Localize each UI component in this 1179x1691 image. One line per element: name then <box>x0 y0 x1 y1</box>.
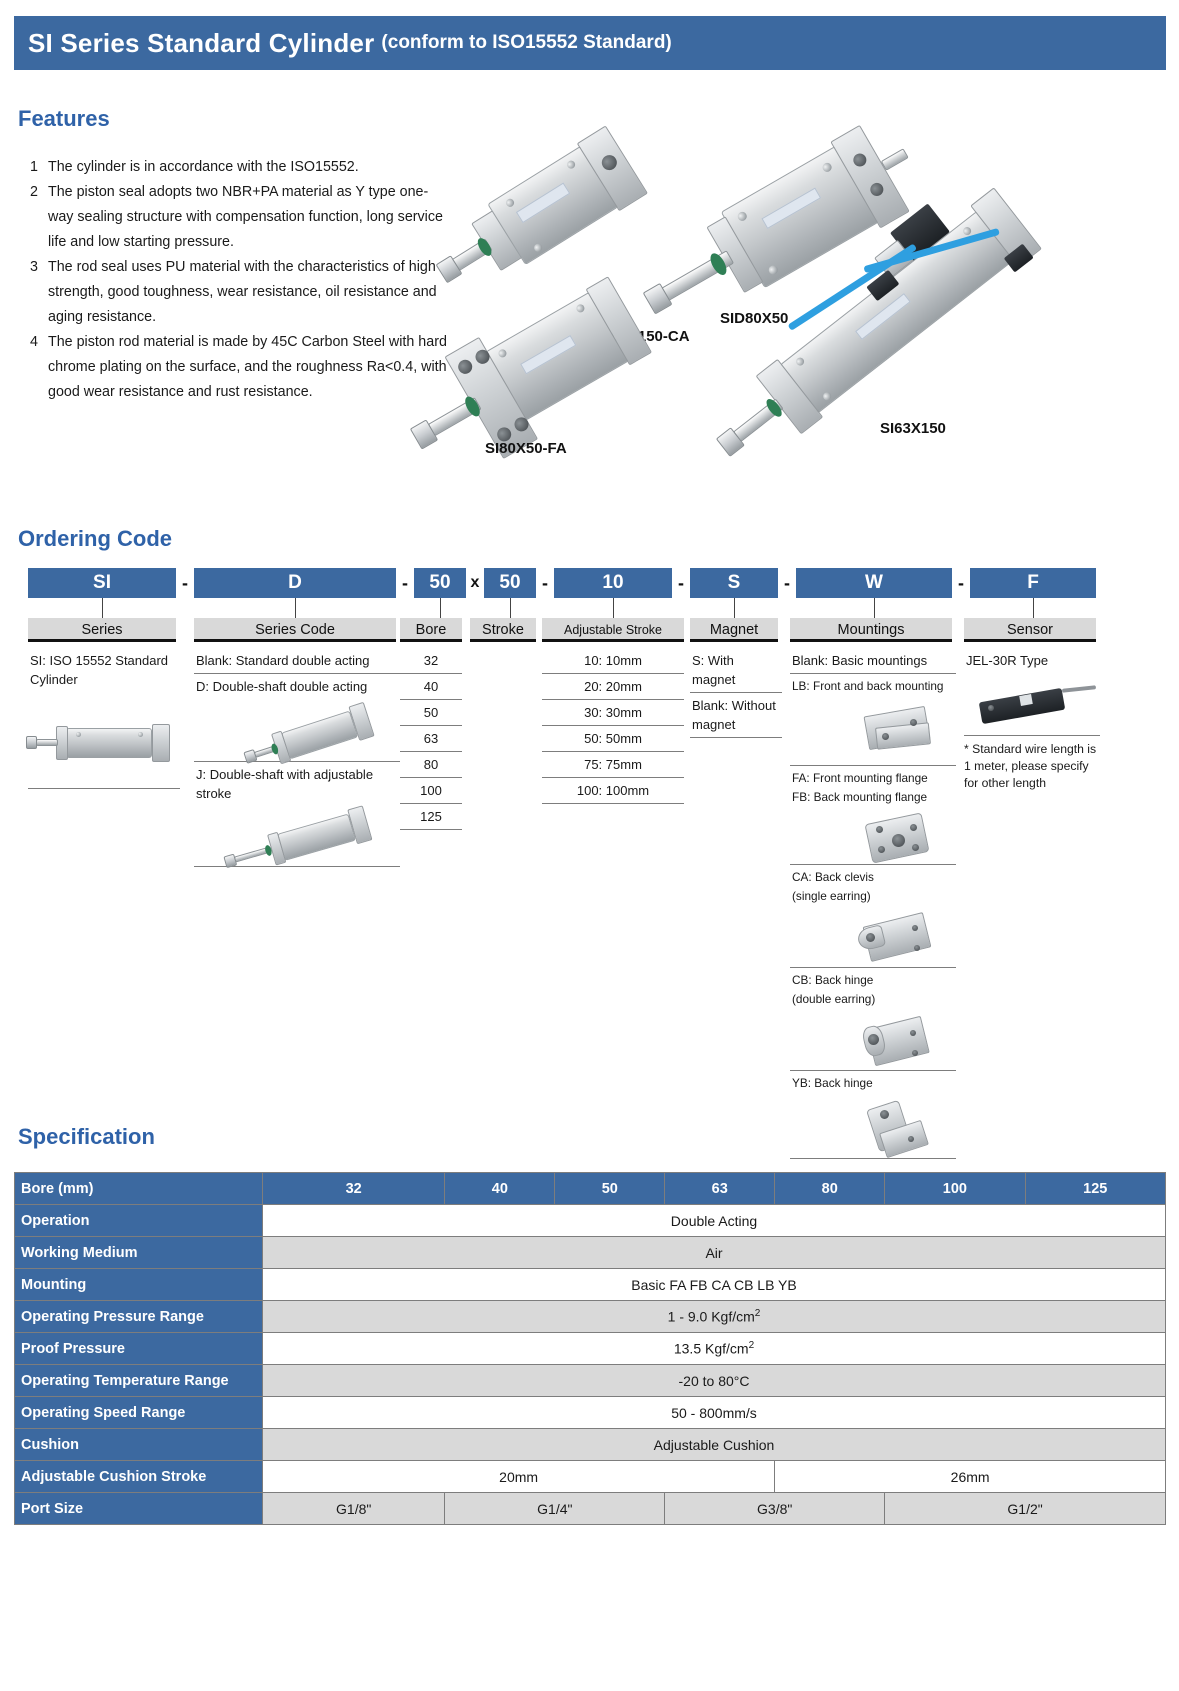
leader-line-series-code <box>295 598 296 618</box>
port-size-value: G1/2" <box>885 1493 1166 1525</box>
option-item: 40 <box>400 674 462 700</box>
row-value: Basic FA FB CA CB LB YB <box>263 1269 1166 1301</box>
order-code-sensor[interactable]: F <box>970 568 1096 598</box>
feature-item: 4 The piston rod material is made by 45C… <box>22 330 452 405</box>
feature-text: The rod seal uses PU material with the c… <box>48 255 452 330</box>
order-separator-2: - <box>398 568 412 598</box>
leader-line-mountings <box>874 598 875 618</box>
series-code-thumbnail-d <box>194 699 400 761</box>
sensor-thumbnail <box>964 673 1100 735</box>
option-item: 63 <box>400 726 462 752</box>
option-item: LB: Front and back mounting <box>790 674 956 699</box>
row-value-with-sup: 13.5 Kgf/cm2 <box>263 1333 1166 1365</box>
product-label-si80x50-fa: SI80X50-FA <box>485 440 567 457</box>
option-item-sub: (double earring) <box>790 990 956 1012</box>
option-item: Blank: Standard double acting <box>194 648 400 674</box>
port-size-value: G1/8" <box>263 1493 445 1525</box>
option-item: 75: 75mm <box>542 752 684 778</box>
leader-line-magnet <box>734 598 735 618</box>
option-item: FA: Front mounting flange <box>790 766 956 788</box>
mounting-thumbnail-lb <box>790 699 956 765</box>
port-size-value: G3/8" <box>665 1493 885 1525</box>
order-category-adj-stroke: Adjustable Stroke <box>542 618 684 642</box>
option-item: 50: 50mm <box>542 726 684 752</box>
table-row: Operation Double Acting <box>15 1205 1166 1237</box>
row-value: Adjustable Cushion <box>263 1429 1166 1461</box>
order-code-mountings[interactable]: W <box>796 568 952 598</box>
order-separator-5: - <box>780 568 794 598</box>
bore-value: 63 <box>665 1173 775 1205</box>
mounting-thumbnail-ca <box>790 909 956 967</box>
mounting-thumbnail-fa-fb <box>790 810 956 864</box>
leader-line-series <box>102 598 103 618</box>
option-item: Blank: Without magnet <box>690 693 782 738</box>
feature-item: 3 The rod seal uses PU material with the… <box>22 255 452 330</box>
series-code-thumbnail-j <box>194 806 400 866</box>
order-separator-4: - <box>674 568 688 598</box>
order-separator-3: - <box>538 568 552 598</box>
option-item: Blank: Basic mountings <box>790 648 956 674</box>
row-value: Air <box>263 1237 1166 1269</box>
order-options-adj-stroke: 10: 10mm 20: 20mm 30: 30mm 50: 50mm 75: … <box>542 648 684 804</box>
page-subtitle: (conform to ISO15552 Standard) <box>381 32 671 54</box>
row-label: Proof Pressure <box>15 1333 263 1365</box>
feature-text: The piston seal adopts two NBR+PA materi… <box>48 180 452 255</box>
page-title-bar: SI Series Standard Cylinder (conform to … <box>14 16 1166 70</box>
table-row: Working Medium Air <box>15 1237 1166 1269</box>
feature-item: 1 The cylinder is in accordance with the… <box>22 155 452 180</box>
option-item: 20: 20mm <box>542 674 684 700</box>
table-row: Operating Pressure Range 1 - 9.0 Kgf/cm2 <box>15 1301 1166 1333</box>
feature-item: 2 The piston seal adopts two NBR+PA mate… <box>22 180 452 255</box>
sensor-note: * Standard wire length is 1 meter, pleas… <box>964 736 1100 792</box>
row-value: Double Acting <box>263 1205 1166 1237</box>
order-code-adj-stroke[interactable]: 10 <box>554 568 672 598</box>
row-value: 50 - 800mm/s <box>263 1397 1166 1429</box>
table-row-port-size: Port Size G1/8" G1/4" G3/8" G1/2" <box>15 1493 1166 1525</box>
bore-value: 40 <box>445 1173 555 1205</box>
bore-value: 100 <box>885 1173 1025 1205</box>
port-size-value: G1/4" <box>445 1493 665 1525</box>
row-label: Working Medium <box>15 1237 263 1269</box>
order-category-mountings: Mountings <box>790 618 952 642</box>
order-code-bore[interactable]: 50 <box>414 568 466 598</box>
order-category-sensor: Sensor <box>964 618 1096 642</box>
row-label: Adjustable Cushion Stroke <box>15 1461 263 1493</box>
feature-number: 1 <box>22 155 48 180</box>
row-label: Cushion <box>15 1429 263 1461</box>
option-item: SI: ISO 15552 Standard Cylinder <box>28 648 180 692</box>
row-label: Port Size <box>15 1493 263 1525</box>
feature-text: The cylinder is in accordance with the I… <box>48 155 452 180</box>
table-row: Cushion Adjustable Cushion <box>15 1429 1166 1461</box>
mounting-thumbnail-cb <box>790 1012 956 1070</box>
order-category-bore: Bore <box>400 618 462 642</box>
leader-line-bore <box>440 598 441 618</box>
specification-heading: Specification <box>18 1124 155 1150</box>
series-thumbnail <box>28 692 180 788</box>
features-heading: Features <box>18 106 110 132</box>
feature-number: 3 <box>22 255 48 330</box>
table-row: Operating Speed Range 50 - 800mm/s <box>15 1397 1166 1429</box>
option-item: 32 <box>400 648 462 674</box>
option-item: 10: 10mm <box>542 648 684 674</box>
bore-value: 80 <box>775 1173 885 1205</box>
table-row-cushion-stroke: Adjustable Cushion Stroke 20mm 26mm <box>15 1461 1166 1493</box>
leader-line-stroke <box>510 598 511 618</box>
order-category-series-code: Series Code <box>194 618 396 642</box>
table-row-bore-header: Bore (mm) 32 40 50 63 80 100 125 <box>15 1173 1166 1205</box>
table-row: Operating Temperature Range -20 to 80°C <box>15 1365 1166 1397</box>
row-label: Mounting <box>15 1269 263 1301</box>
feature-number: 4 <box>22 330 48 405</box>
option-item: CA: Back clevis <box>790 865 956 887</box>
row-value-superscript: 2 <box>749 1340 755 1351</box>
order-options-series-code: Blank: Standard double acting D: Double-… <box>194 648 400 867</box>
page-title: SI Series Standard Cylinder <box>28 28 374 59</box>
option-item: CB: Back hinge <box>790 968 956 990</box>
option-item: 30: 30mm <box>542 700 684 726</box>
order-category-stroke: Stroke <box>470 618 536 642</box>
bore-value: 50 <box>555 1173 665 1205</box>
row-value-superscript: 2 <box>755 1308 761 1319</box>
row-value-text: 13.5 Kgf/cm <box>674 1341 749 1357</box>
option-item: S: With magnet <box>690 648 782 693</box>
table-row: Proof Pressure 13.5 Kgf/cm2 <box>15 1333 1166 1365</box>
bore-value: 32 <box>263 1173 445 1205</box>
row-value-with-sup: 1 - 9.0 Kgf/cm2 <box>263 1301 1166 1333</box>
order-options-mountings: Blank: Basic mountings LB: Front and bac… <box>790 648 956 1159</box>
cushion-stroke-value: 20mm <box>263 1461 775 1493</box>
order-options-bore: 32 40 50 63 80 100 125 <box>400 648 462 830</box>
order-code-stroke[interactable]: 50 <box>484 568 536 598</box>
bore-value: 125 <box>1025 1173 1165 1205</box>
row-label: Operation <box>15 1205 263 1237</box>
row-label-bore: Bore (mm) <box>15 1173 263 1205</box>
option-item: YB: Back hinge <box>790 1071 956 1096</box>
order-separator-6: - <box>954 568 968 598</box>
product-label-si63x150: SI63X150 <box>880 420 946 437</box>
order-code-magnet[interactable]: S <box>690 568 778 598</box>
option-item: 125 <box>400 804 462 830</box>
row-value: -20 to 80°C <box>263 1365 1166 1397</box>
option-item: FB: Back mounting flange <box>790 788 956 810</box>
table-row: Mounting Basic FA FB CA CB LB YB <box>15 1269 1166 1301</box>
ordering-code-heading: Ordering Code <box>18 526 172 552</box>
order-category-magnet: Magnet <box>690 618 778 642</box>
option-item-sub: (single earring) <box>790 887 956 909</box>
specification-table: Bore (mm) 32 40 50 63 80 100 125 Operati… <box>14 1172 1166 1525</box>
order-category-series: Series <box>28 618 176 642</box>
option-item: 80 <box>400 752 462 778</box>
row-label: Operating Pressure Range <box>15 1301 263 1333</box>
feature-number: 2 <box>22 180 48 255</box>
option-item: 50 <box>400 700 462 726</box>
order-separator-x: x <box>468 568 482 598</box>
leader-line-adj-stroke <box>613 598 614 618</box>
order-options-sensor: JEL-30R Type * Standard wire length is 1… <box>964 648 1100 792</box>
option-item: 100: 100mm <box>542 778 684 804</box>
leader-line-sensor <box>1033 598 1034 618</box>
order-options-magnet: S: With magnet Blank: Without magnet <box>690 648 782 738</box>
row-label: Operating Temperature Range <box>15 1365 263 1397</box>
order-separator-1: - <box>178 568 192 598</box>
cushion-stroke-value: 26mm <box>775 1461 1166 1493</box>
features-list: 1 The cylinder is in accordance with the… <box>22 155 452 405</box>
option-item: JEL-30R Type <box>964 648 1100 673</box>
order-options-series: SI: ISO 15552 Standard Cylinder <box>28 648 180 790</box>
order-code-series-code[interactable]: D <box>194 568 396 598</box>
row-value-text: 1 - 9.0 Kgf/cm <box>668 1309 755 1325</box>
row-label: Operating Speed Range <box>15 1397 263 1429</box>
option-item: 100 <box>400 778 462 804</box>
order-code-series[interactable]: SI <box>28 568 176 598</box>
mounting-thumbnail-yb <box>790 1096 956 1158</box>
feature-text: The piston rod material is made by 45C C… <box>48 330 452 405</box>
product-photo-group: SI50X150-CA SID80X50 SI80X50-FA <box>455 120 1170 470</box>
